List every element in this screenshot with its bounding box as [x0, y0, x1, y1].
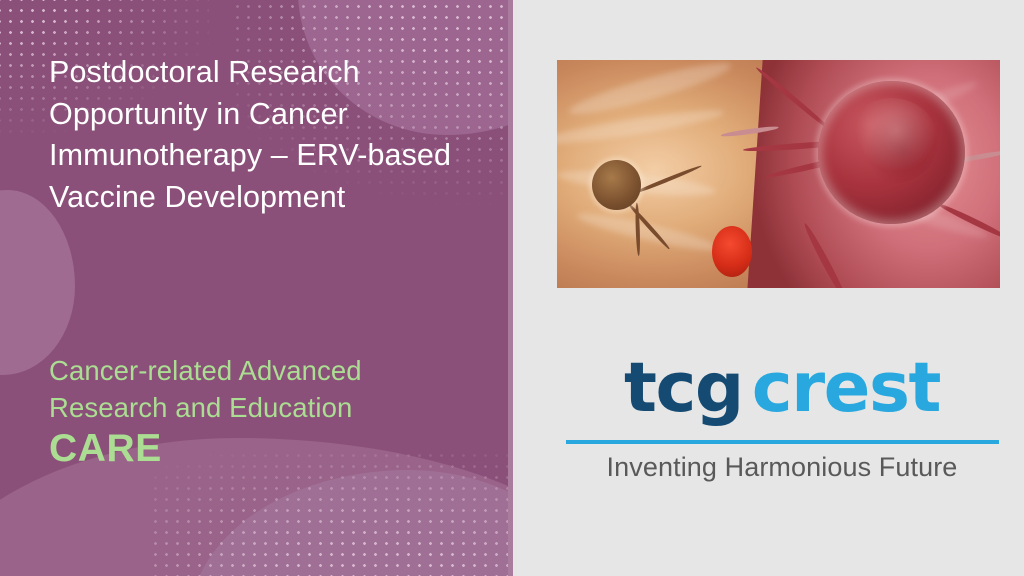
red-cell-cluster [712, 226, 752, 276]
program-acronym: CARE [49, 425, 489, 472]
logo-word-crest: crest [752, 348, 940, 428]
program-name-line-2: Research and Education [49, 389, 489, 426]
left-purple-panel: Postdoctoral Research Opportunity in Can… [0, 0, 508, 576]
tcg-crest-logo: tcgcrest Inventing Harmonious Future [562, 345, 1002, 484]
logo-divider-rule [566, 440, 999, 444]
large-cancer-cell [818, 81, 964, 225]
logo-word-tcg: tcg [624, 348, 743, 428]
right-gray-panel: tcgcrest Inventing Harmonious Future [513, 0, 1024, 576]
logo-wordmark: tcgcrest [562, 345, 1002, 431]
cancer-cell-image [557, 60, 1000, 288]
slide-canvas: Postdoctoral Research Opportunity in Can… [0, 0, 1024, 576]
program-name-block: Cancer-related Advanced Research and Edu… [49, 352, 489, 472]
program-name-line-1: Cancer-related Advanced [49, 352, 489, 389]
headline-title: Postdoctoral Research Opportunity in Can… [49, 52, 469, 218]
logo-tagline: Inventing Harmonious Future [562, 450, 1002, 484]
